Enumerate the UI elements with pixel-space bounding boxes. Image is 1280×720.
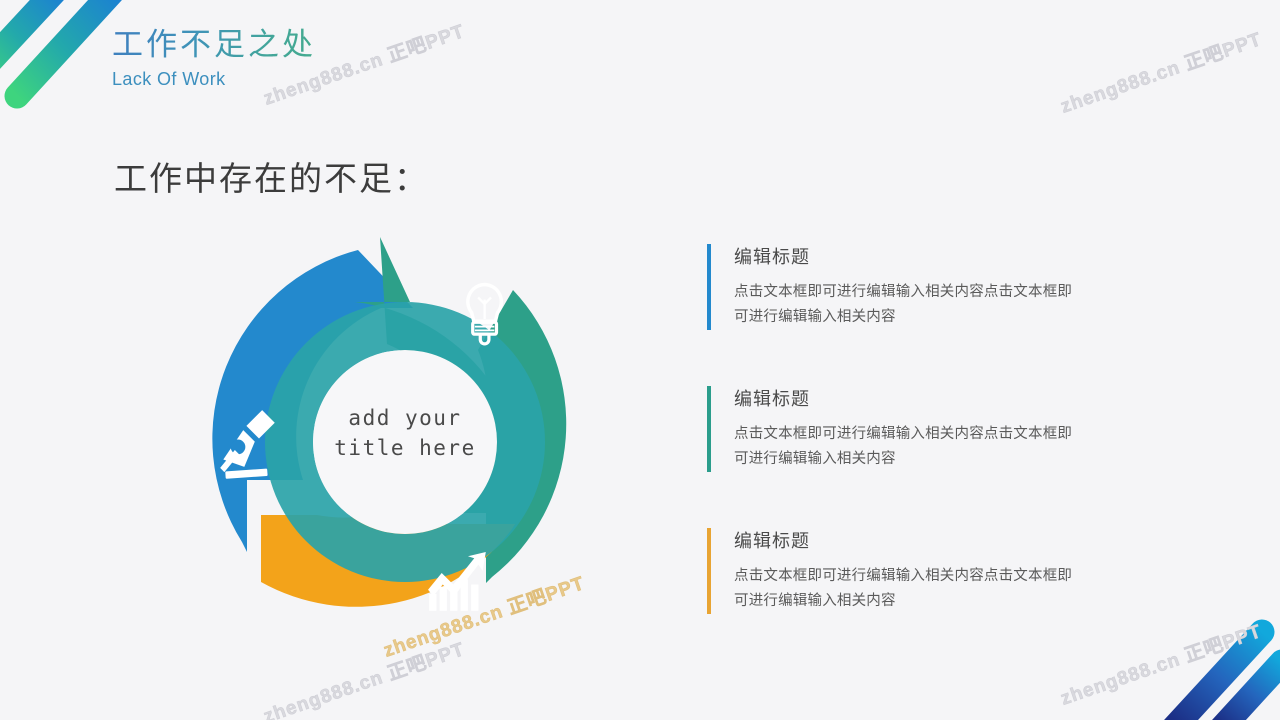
cycle-diagram: add your title here xyxy=(195,232,615,657)
list-item[interactable]: 编辑标题 点击文本框即可进行编辑输入相关内容点击文本框即可进行编辑输入相关内容 xyxy=(707,244,1127,330)
page-subtitle: Lack Of Work xyxy=(112,69,316,90)
lightbulb-icon xyxy=(468,284,502,343)
item-title: 编辑标题 xyxy=(734,386,1127,413)
slide-header: 工作不足之处 Lack Of Work xyxy=(112,26,316,90)
item-body: 点击文本框即可进行编辑输入相关内容点击文本框即可进行编辑输入相关内容 xyxy=(734,564,1074,614)
diagram-center-disc xyxy=(313,350,497,534)
item-body: 点击文本框即可进行编辑输入相关内容点击文本框即可进行编辑输入相关内容 xyxy=(734,422,1074,472)
list-item[interactable]: 编辑标题 点击文本框即可进行编辑输入相关内容点击文本框即可进行编辑输入相关内容 xyxy=(707,528,1127,614)
item-accent-bar xyxy=(707,528,711,614)
item-title: 编辑标题 xyxy=(734,528,1127,555)
item-accent-bar xyxy=(707,244,711,330)
corner-ribbon-bottom-right xyxy=(1130,590,1280,720)
page-title: 工作不足之处 xyxy=(112,26,316,65)
watermark: zheng888.cn 正吧PPT xyxy=(1056,24,1265,118)
item-body: 点击文本框即可进行编辑输入相关内容点击文本框即可进行编辑输入相关内容 xyxy=(734,280,1074,330)
section-heading: 工作中存在的不足： xyxy=(114,152,429,200)
slide-root: 工作不足之处 Lack Of Work 工作中存在的不足： xyxy=(0,0,1280,720)
item-accent-bar xyxy=(707,386,711,472)
item-title: 编辑标题 xyxy=(734,244,1127,271)
content-list: 编辑标题 点击文本框即可进行编辑输入相关内容点击文本框即可进行编辑输入相关内容 … xyxy=(707,244,1127,614)
list-item[interactable]: 编辑标题 点击文本框即可进行编辑输入相关内容点击文本框即可进行编辑输入相关内容 xyxy=(707,386,1127,472)
